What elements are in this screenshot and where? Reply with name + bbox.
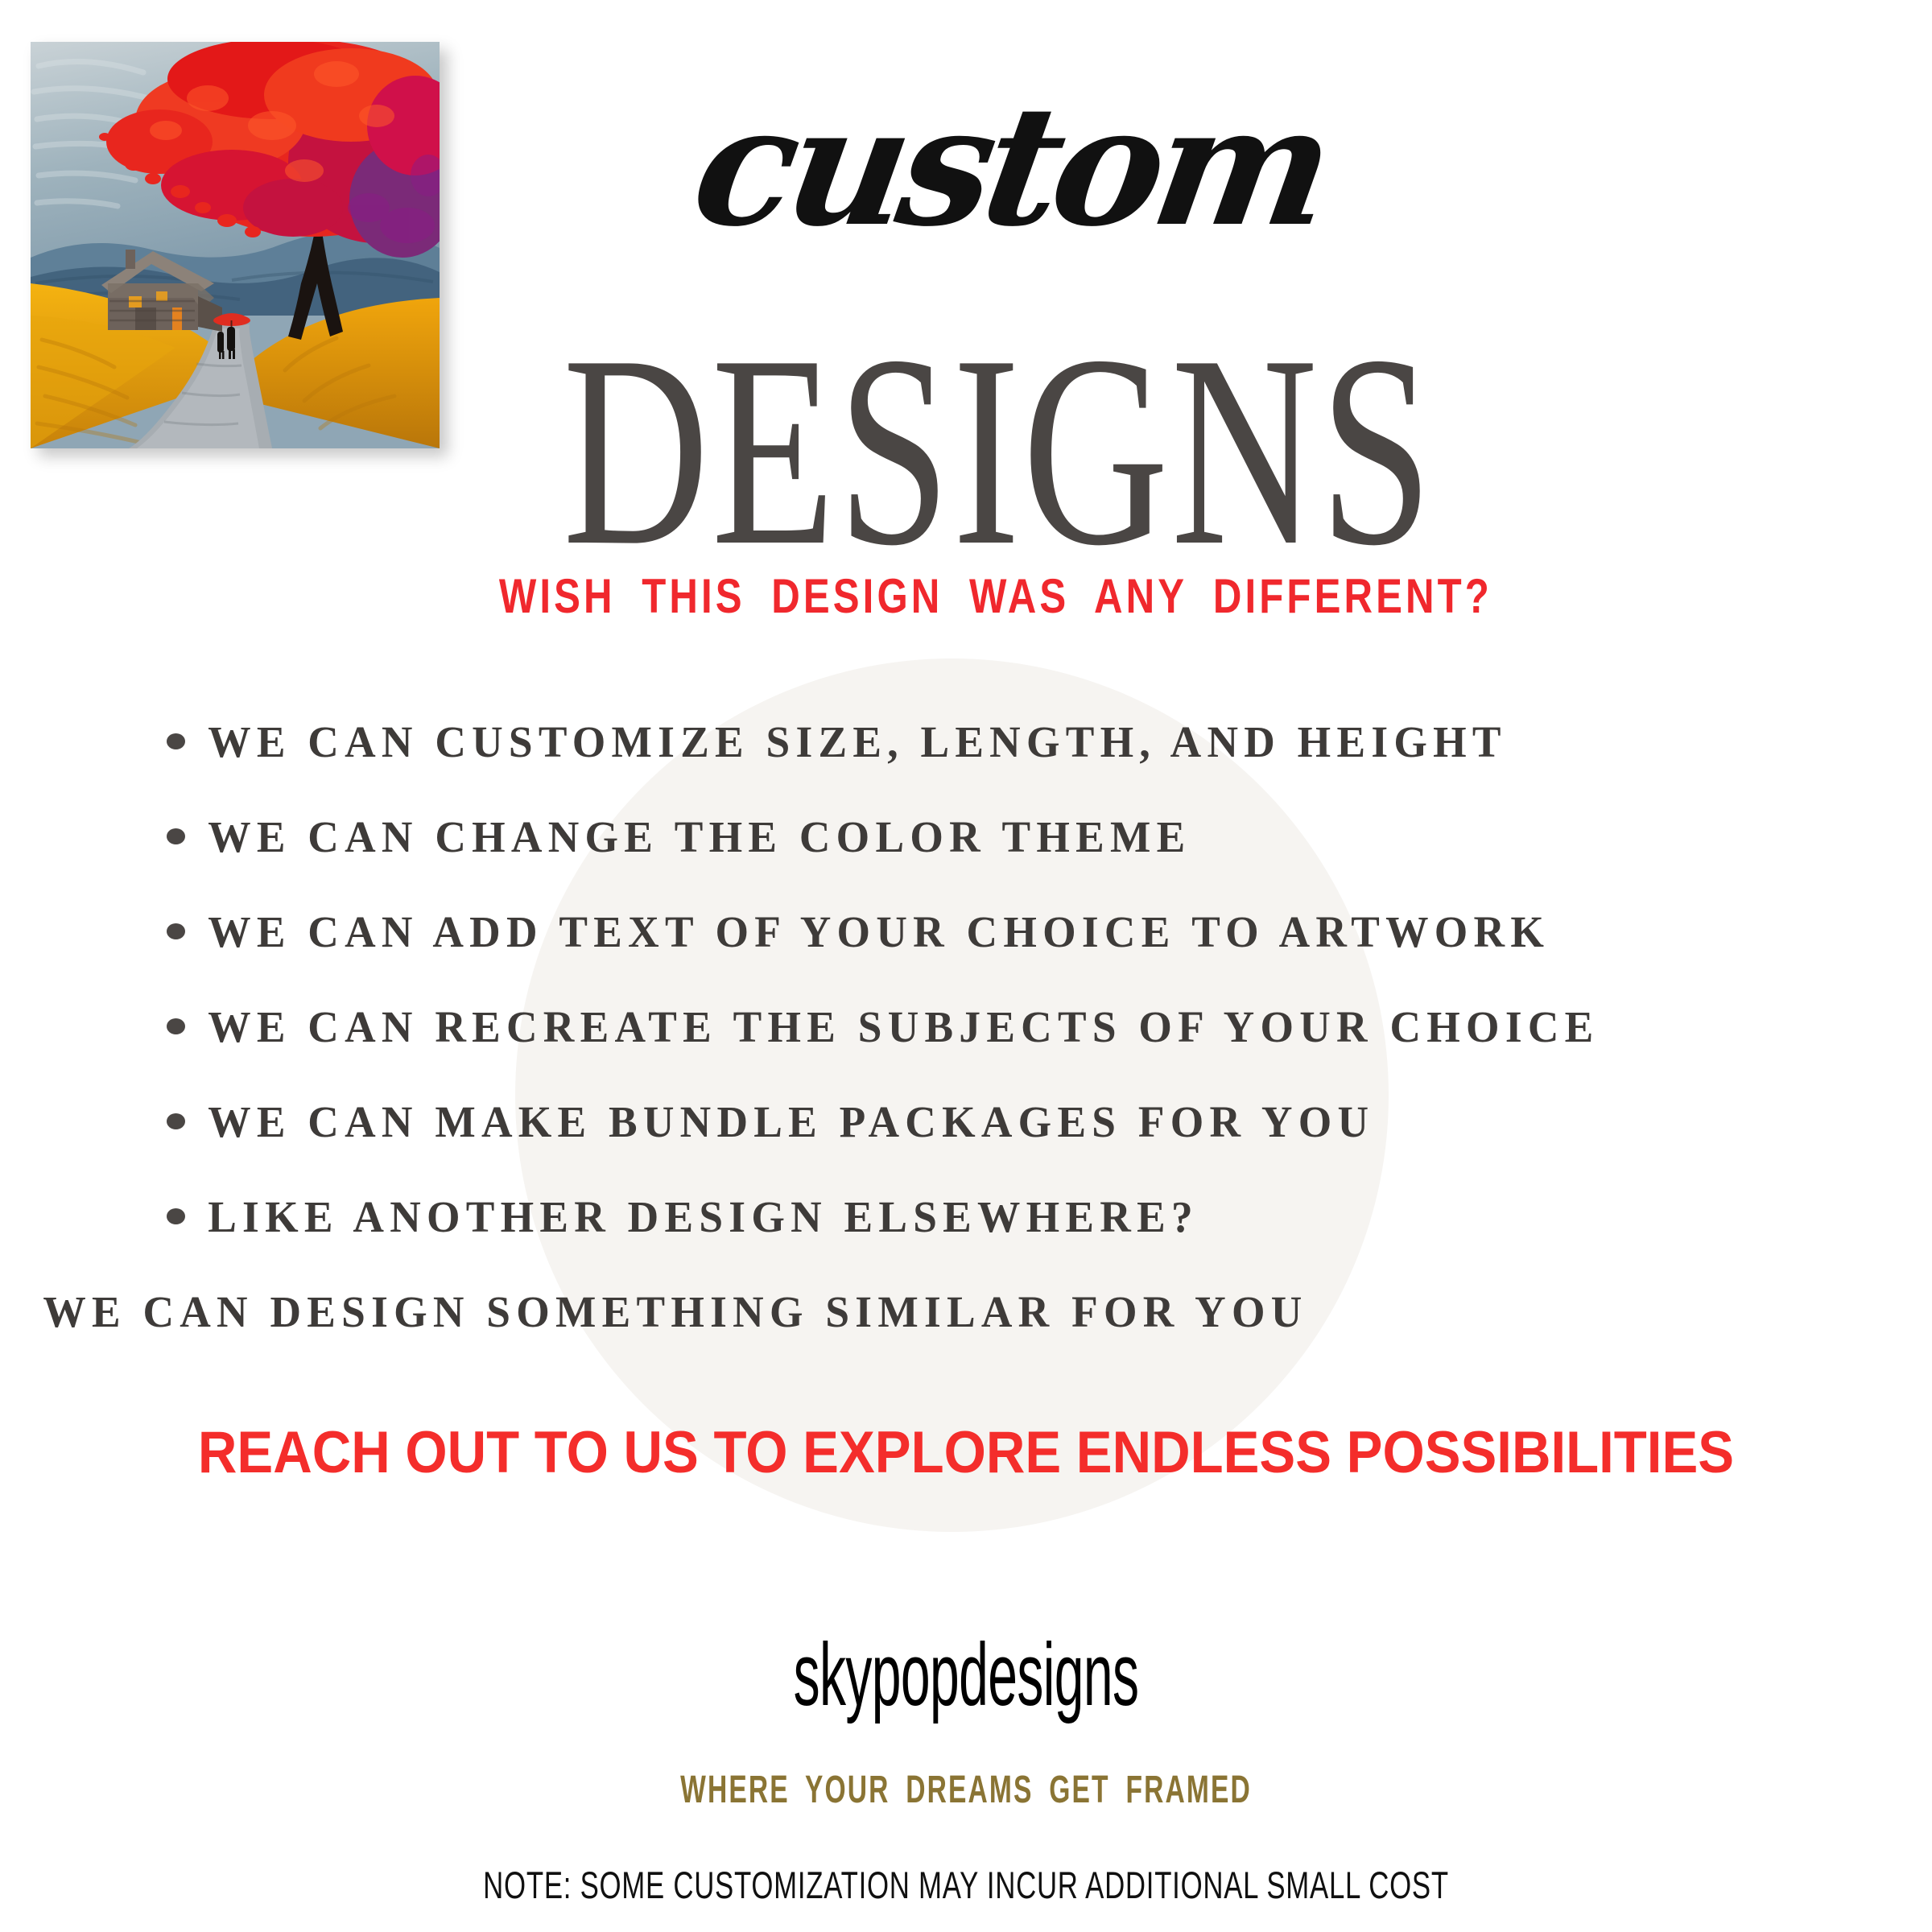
list-item-label: WE CAN DESIGN SOMETHING SIMILAR FOR YOU [0,1286,1308,1337]
custom-designs-promo-page: custom DESIGNS WISH THIS DESIGN WAS ANY … [0,0,1932,1932]
list-item: WE CAN CHANGE THE COLOR THEME [0,789,1932,884]
list-item: LIKE ANOTHER DESIGN ELSEWHERE? [0,1169,1932,1264]
list-item: WE CAN MAKE BUNDLE PACKAGES FOR YOU [0,1074,1932,1169]
script-heading-custom: custom [0,85,1932,250]
list-item-label: WE CAN RECREATE THE SUBJECTS OF YOUR CHO… [161,1001,1600,1052]
customization-options-list: WE CAN CUSTOMIZE SIZE, LENGTH, AND HEIGH… [0,694,1932,1359]
subtitle-question: WISH THIS DESIGN WAS ANY DIFFERENT? [174,568,1758,625]
list-item-label: WE CAN ADD TEXT OF YOUR CHOICE TO ARTWOR… [161,906,1550,957]
list-item-continuation: WE CAN DESIGN SOMETHING SIMILAR FOR YOU [0,1264,1932,1359]
list-item: WE CAN RECREATE THE SUBJECTS OF YOUR CHO… [0,979,1932,1074]
page-title-designs: DESIGNS [251,314,1681,588]
list-item: WE CAN CUSTOMIZE SIZE, LENGTH, AND HEIGH… [0,694,1932,789]
call-to-action-text: REACH OUT TO US TO EXPLORE ENDLESS POSSI… [77,1423,1855,1482]
list-item-label: WE CAN MAKE BUNDLE PACKAGES FOR YOU [161,1096,1374,1147]
brand-logo-text: skypopdesigns [386,1631,1546,1719]
list-item-label: WE CAN CUSTOMIZE SIZE, LENGTH, AND HEIGH… [161,716,1507,767]
brand-tagline: WHERE YOUR DREAMS GET FRAMED [290,1771,1642,1810]
disclaimer-note: NOTE: SOME CUSTOMIZATION MAY INCUR ADDIT… [251,1866,1681,1904]
list-item-label: LIKE ANOTHER DESIGN ELSEWHERE? [161,1191,1199,1242]
list-item: WE CAN ADD TEXT OF YOUR CHOICE TO ARTWOR… [0,884,1932,979]
list-item-label: WE CAN CHANGE THE COLOR THEME [161,811,1191,862]
